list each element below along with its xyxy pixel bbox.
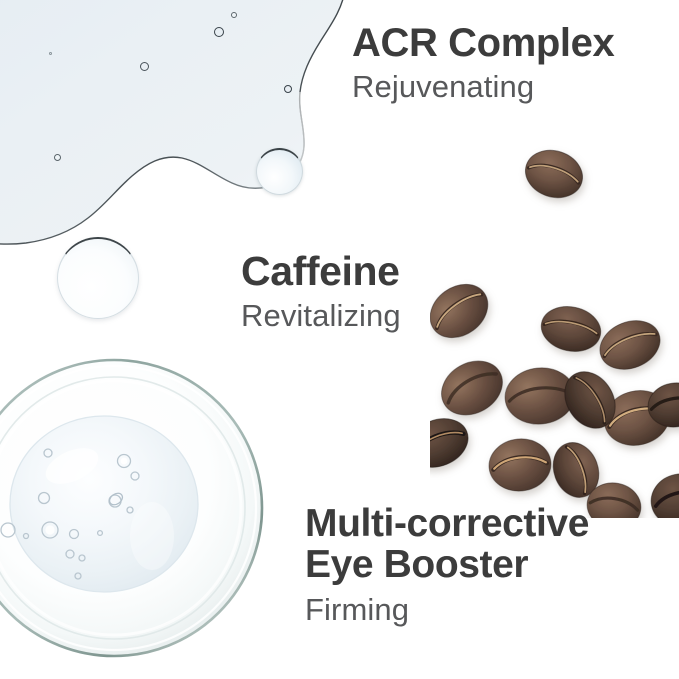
serum-spill bbox=[0, 0, 360, 250]
coffee-beans-shape bbox=[430, 118, 679, 518]
ingredient-benefit: Rejuvenating bbox=[352, 70, 614, 104]
coffee-bean bbox=[645, 379, 679, 430]
coffee-bean bbox=[555, 362, 626, 437]
air-bubble bbox=[231, 12, 237, 18]
ingredient-benefit: Firming bbox=[305, 593, 589, 627]
bean-group bbox=[430, 143, 679, 518]
petri-dish-shape bbox=[0, 358, 264, 658]
air-bubble bbox=[214, 27, 224, 37]
ingredient-title: Caffeine bbox=[241, 250, 401, 293]
ingredient-block-acr-complex: ACR Complex Rejuvenating bbox=[352, 22, 614, 104]
coffee-bean bbox=[519, 143, 588, 205]
coffee-bean bbox=[430, 273, 498, 348]
coffee-bean bbox=[502, 364, 577, 427]
air-bubble bbox=[49, 52, 52, 55]
coffee-bean bbox=[593, 312, 668, 378]
ingredient-title-line1: Multi-corrective bbox=[305, 503, 589, 544]
ingredient-title: ACR Complex bbox=[352, 22, 614, 64]
coffee-bean bbox=[430, 410, 475, 476]
coffee-bean bbox=[646, 469, 679, 518]
air-bubble bbox=[140, 62, 149, 71]
coffee-bean bbox=[583, 479, 644, 518]
air-bubble bbox=[284, 85, 292, 93]
ingredient-block-eye-booster: Multi-corrective Eye Booster Firming bbox=[305, 503, 589, 627]
ingredient-title-line2: Eye Booster bbox=[305, 544, 589, 585]
coffee-bean bbox=[537, 301, 605, 357]
ingredient-benefit: Revitalizing bbox=[241, 299, 401, 333]
droplet-small bbox=[256, 148, 303, 195]
coffee-bean bbox=[546, 436, 606, 504]
coffee-bean bbox=[432, 350, 512, 425]
coffee-bean bbox=[598, 384, 675, 452]
petri-dish bbox=[0, 358, 264, 658]
coffee-bean bbox=[486, 436, 553, 494]
serum-spill-shape bbox=[0, 0, 360, 250]
droplet-large bbox=[57, 237, 139, 319]
coffee-beans-cluster bbox=[430, 118, 679, 518]
product-ingredient-infographic: ACR Complex Rejuvenating Caffeine Revita… bbox=[0, 0, 679, 679]
air-bubble bbox=[54, 154, 61, 161]
ingredient-block-caffeine: Caffeine Revitalizing bbox=[241, 250, 401, 334]
